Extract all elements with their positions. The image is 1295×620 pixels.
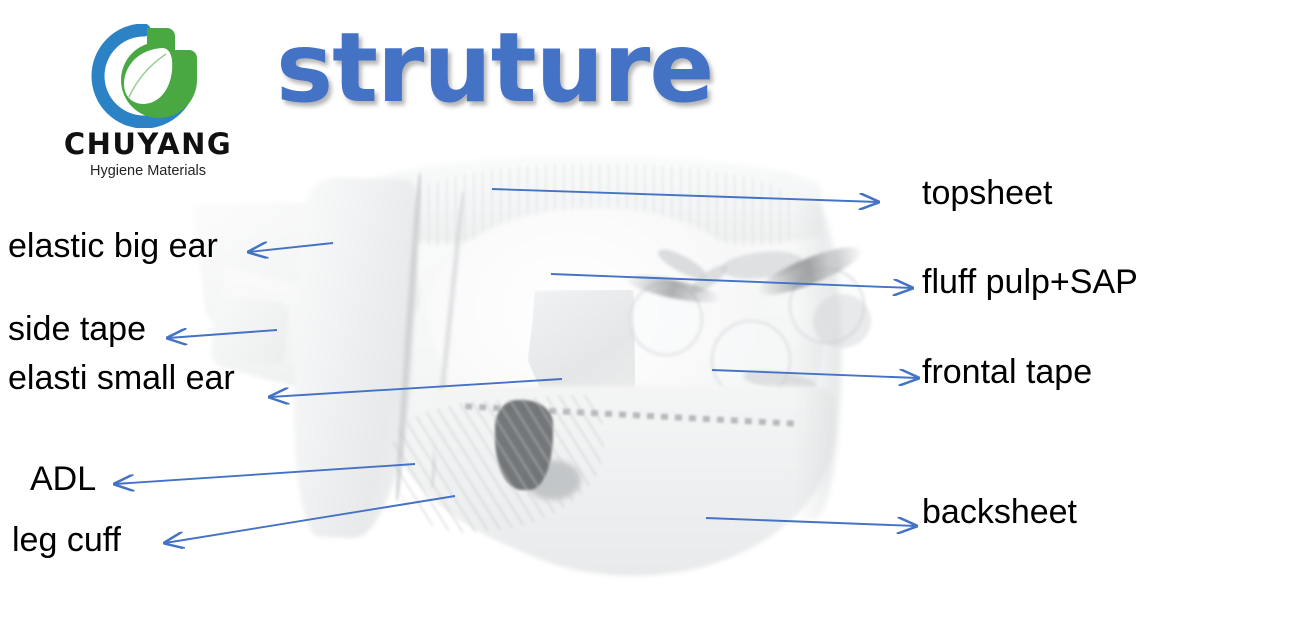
callout-label-elastic-big-ear: elastic big ear — [8, 229, 218, 263]
callout-label-frontal-tape: frontal tape — [922, 355, 1092, 389]
callout-label-side-tape: side tape — [8, 312, 146, 346]
diaper-side-tape — [210, 297, 289, 365]
chuyang-leaf-circle-logo — [86, 24, 202, 128]
callout-label-fluff-pulp-sap: fluff pulp+SAP — [922, 265, 1138, 299]
callout-label-adl: ADL — [30, 462, 96, 496]
callout-label-topsheet: topsheet — [922, 176, 1052, 210]
diaper-product-photo — [195, 150, 875, 590]
callout-label-leg-cuff: leg cuff — [12, 523, 121, 557]
callout-label-elasti-small-ear: elasti small ear — [8, 361, 235, 395]
page-title: struture — [276, 18, 713, 119]
callout-label-backsheet: backsheet — [922, 495, 1077, 529]
slide-canvas: CHUYANG Hygiene Materials struture — [0, 0, 1295, 620]
